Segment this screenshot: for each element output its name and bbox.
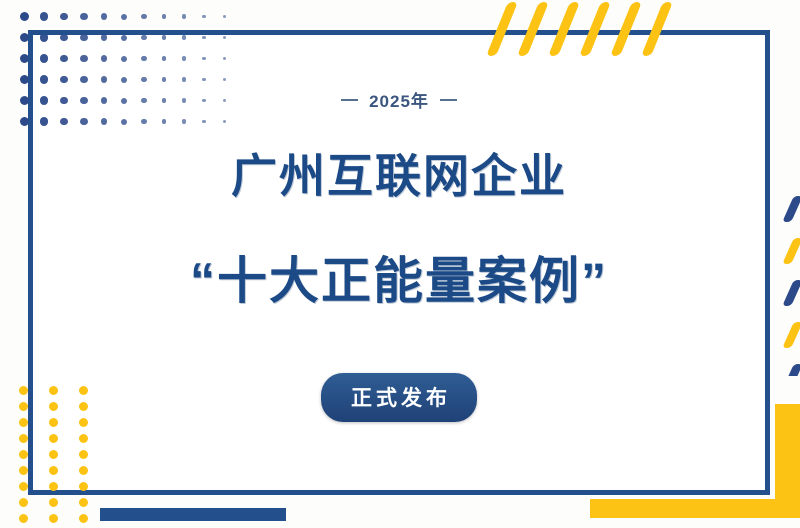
dot-icon [182, 14, 186, 18]
rule-left-icon [341, 99, 358, 101]
year-row: 2025年 [341, 87, 457, 112]
slash-mark-icon [782, 238, 800, 264]
dot-icon [19, 386, 28, 395]
dot-icon [162, 14, 167, 19]
poster-canvas: 2025年 广州互联网企业 “十大正能量案例” 正式发布 [0, 0, 800, 528]
dot-icon [19, 418, 28, 427]
dot-icon [121, 14, 127, 20]
slash-marks-right-edge-icon [778, 196, 800, 376]
yellow-corner-block-horizontal-icon [590, 499, 800, 518]
slash-mark-icon [782, 196, 800, 222]
dot-icon [20, 12, 29, 21]
year-label: 2025年 [369, 87, 429, 112]
poster-content: 2025年 广州互联网企业 “十大正能量案例” 正式发布 [33, 35, 765, 490]
dot-icon [49, 498, 58, 507]
dot-icon [19, 402, 28, 411]
navy-accent-bar-icon [100, 508, 286, 521]
dot-icon [101, 13, 108, 20]
dot-icon [223, 15, 226, 18]
dot-icon [19, 466, 28, 475]
dot-icon [19, 450, 28, 459]
dot-icon [80, 13, 87, 20]
dot-icon [19, 498, 28, 507]
dot-icon [49, 514, 58, 523]
page-title-line-2: “十大正能量案例” [190, 241, 608, 313]
dot-icon [19, 482, 28, 491]
dot-icon [19, 434, 28, 443]
dot-icon [40, 12, 48, 20]
dot-icon [202, 15, 206, 19]
slash-mark-icon [782, 322, 800, 348]
dot-icon [79, 498, 88, 507]
rule-right-icon [440, 99, 457, 101]
slash-mark-icon [782, 280, 800, 306]
dot-icon [141, 14, 146, 19]
page-title-line-1: 广州互联网企业 [231, 140, 567, 206]
dot-icon [60, 13, 68, 21]
slash-mark-icon [782, 364, 800, 376]
dot-icon [19, 514, 28, 523]
status-badge: 正式发布 [321, 373, 477, 422]
dot-icon [79, 514, 88, 523]
